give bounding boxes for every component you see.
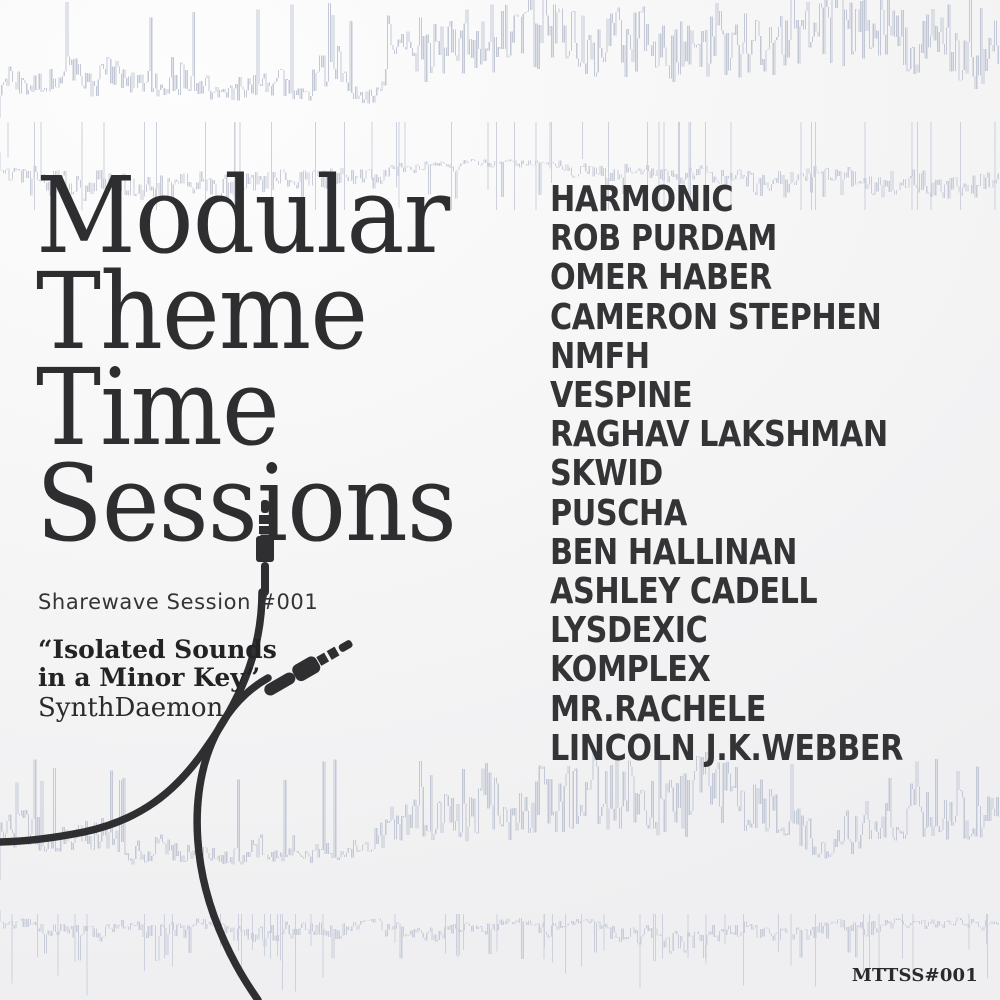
artist-row: OMER HABER: [550, 258, 911, 297]
artist-row: CAMERON STEPHEN: [550, 298, 911, 337]
artist-row: LINCOLN J.K.WEBBER: [550, 729, 911, 768]
artist-row: SKWID: [550, 454, 911, 493]
audio-waveform-bottom: [0, 752, 1000, 1000]
artist-row: BEN HALLINAN: [550, 533, 911, 572]
artist-row: PUSCHA: [550, 494, 911, 533]
artist-row: RAGHAV LAKSHMAN: [550, 415, 911, 454]
quote-line-1: “Isolated Sounds: [38, 636, 278, 664]
artist-row: NMFH: [550, 337, 911, 376]
artist-row: VESPINE: [550, 376, 911, 415]
quote-author: SynthDaemon: [38, 693, 278, 723]
artist-row: ROB PURDAM: [550, 219, 911, 258]
artist-row: LYSDEXIC: [550, 611, 911, 650]
artist-row: KOMPLEX: [550, 650, 911, 689]
album-cover-artwork: Modular Theme Time Sessions: [0, 0, 1000, 1000]
release-quote: “Isolated Sounds in a Minor Key” SynthDa…: [38, 636, 278, 723]
session-label: Sharewave Session #001: [38, 590, 318, 614]
artist-lineup-list: HARMONICROB PURDAMOMER HABERCAMERON STEP…: [550, 180, 980, 768]
artist-row: ASHLEY CADELL: [550, 572, 911, 611]
quote-line-2: in a Minor Key”: [38, 664, 278, 692]
artist-row: HARMONIC: [550, 180, 911, 219]
audio-jack-plug-vertical: [248, 500, 282, 596]
artist-row: MR.RACHELE: [550, 690, 911, 729]
catalog-number: MTTSS#001: [852, 965, 978, 986]
page-title: Modular Theme Time Sessions: [36, 168, 506, 552]
